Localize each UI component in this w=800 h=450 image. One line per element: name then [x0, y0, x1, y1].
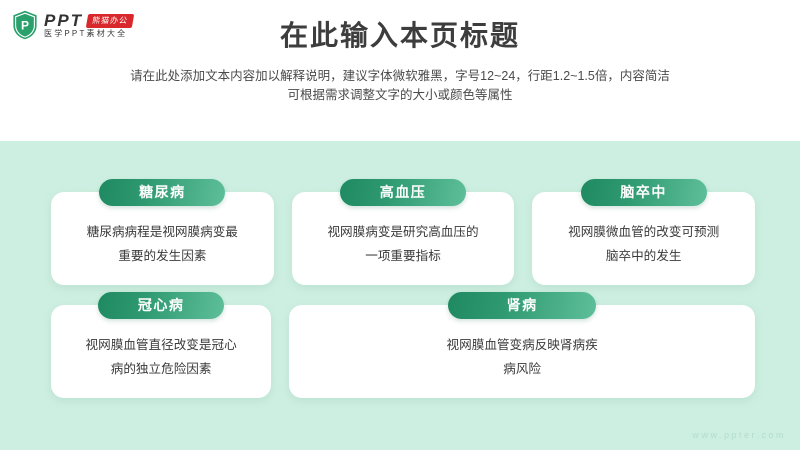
card-text-line: 视网膜血管直径改变是冠心	[86, 333, 237, 357]
card-text-line: 视网膜微血管的改变可预测	[568, 220, 719, 244]
card-text-line: 病风险	[447, 357, 598, 381]
card-text-line: 脑卒中的发生	[568, 244, 719, 268]
page-subtitle: 请在此处添加文本内容加以解释说明，建议字体微软雅黑，字号12~24，行距1.2~…	[0, 67, 800, 105]
card-text-line: 病的独立危险因素	[86, 357, 237, 381]
card-label-hypertension[interactable]: 高血压	[340, 179, 466, 206]
card-cell-diabetes: 糖尿病 糖尿病病程是视网膜病变最 重要的发生因素	[51, 192, 274, 285]
card-text-line: 视网膜病变是研究高血压的	[327, 220, 478, 244]
card-label-coronary[interactable]: 冠心病	[98, 292, 224, 319]
subtitle-line-2: 可根据需求调整文字的大小或颜色等属性	[0, 86, 800, 105]
card-row-bottom: 冠心病 视网膜血管直径改变是冠心 病的独立危险因素 肾病 视网膜血管变病反映肾病…	[51, 305, 755, 398]
card-text-diabetes: 糖尿病病程是视网膜病变最 重要的发生因素	[87, 220, 238, 268]
card-text-kidney: 视网膜血管变病反映肾病疾 病风险	[447, 333, 598, 381]
card-text-hypertension: 视网膜病变是研究高血压的 一项重要指标	[327, 220, 478, 268]
card-label-kidney[interactable]: 肾病	[448, 292, 596, 319]
subtitle-line-1: 请在此处添加文本内容加以解释说明，建议字体微软雅黑，字号12~24，行距1.2~…	[0, 67, 800, 86]
watermark: www.ppter.com	[692, 430, 786, 440]
card-cell-stroke: 脑卒中 视网膜微血管的改变可预测 脑卒中的发生	[532, 192, 755, 285]
card-text-coronary: 视网膜血管直径改变是冠心 病的独立危险因素	[86, 333, 237, 381]
card-label-stroke[interactable]: 脑卒中	[581, 179, 707, 206]
card-label-diabetes[interactable]: 糖尿病	[99, 179, 225, 206]
slide-root: P PPT 熊猫办公 医学PPT素材大全 在此输入本页标题 请在此处添加文本内容…	[0, 0, 800, 450]
card-row-top: 糖尿病 糖尿病病程是视网膜病变最 重要的发生因素 高血压 视网膜病变是研究高血压…	[51, 192, 755, 285]
card-cell-hypertension: 高血压 视网膜病变是研究高血压的 一项重要指标	[292, 192, 515, 285]
card-text-line: 糖尿病病程是视网膜病变最	[87, 220, 238, 244]
card-cell-kidney: 肾病 视网膜血管变病反映肾病疾 病风险	[289, 305, 755, 398]
content-panel: 糖尿病 糖尿病病程是视网膜病变最 重要的发生因素 高血压 视网膜病变是研究高血压…	[0, 141, 800, 450]
page-title: 在此输入本页标题	[0, 18, 800, 53]
card-text-line: 重要的发生因素	[87, 244, 238, 268]
card-cell-coronary: 冠心病 视网膜血管直径改变是冠心 病的独立危险因素	[51, 305, 271, 398]
card-grid: 糖尿病 糖尿病病程是视网膜病变最 重要的发生因素 高血压 视网膜病变是研究高血压…	[51, 192, 755, 398]
card-text-line: 视网膜血管变病反映肾病疾	[447, 333, 598, 357]
card-text-stroke: 视网膜微血管的改变可预测 脑卒中的发生	[568, 220, 719, 268]
card-text-line: 一项重要指标	[327, 244, 478, 268]
